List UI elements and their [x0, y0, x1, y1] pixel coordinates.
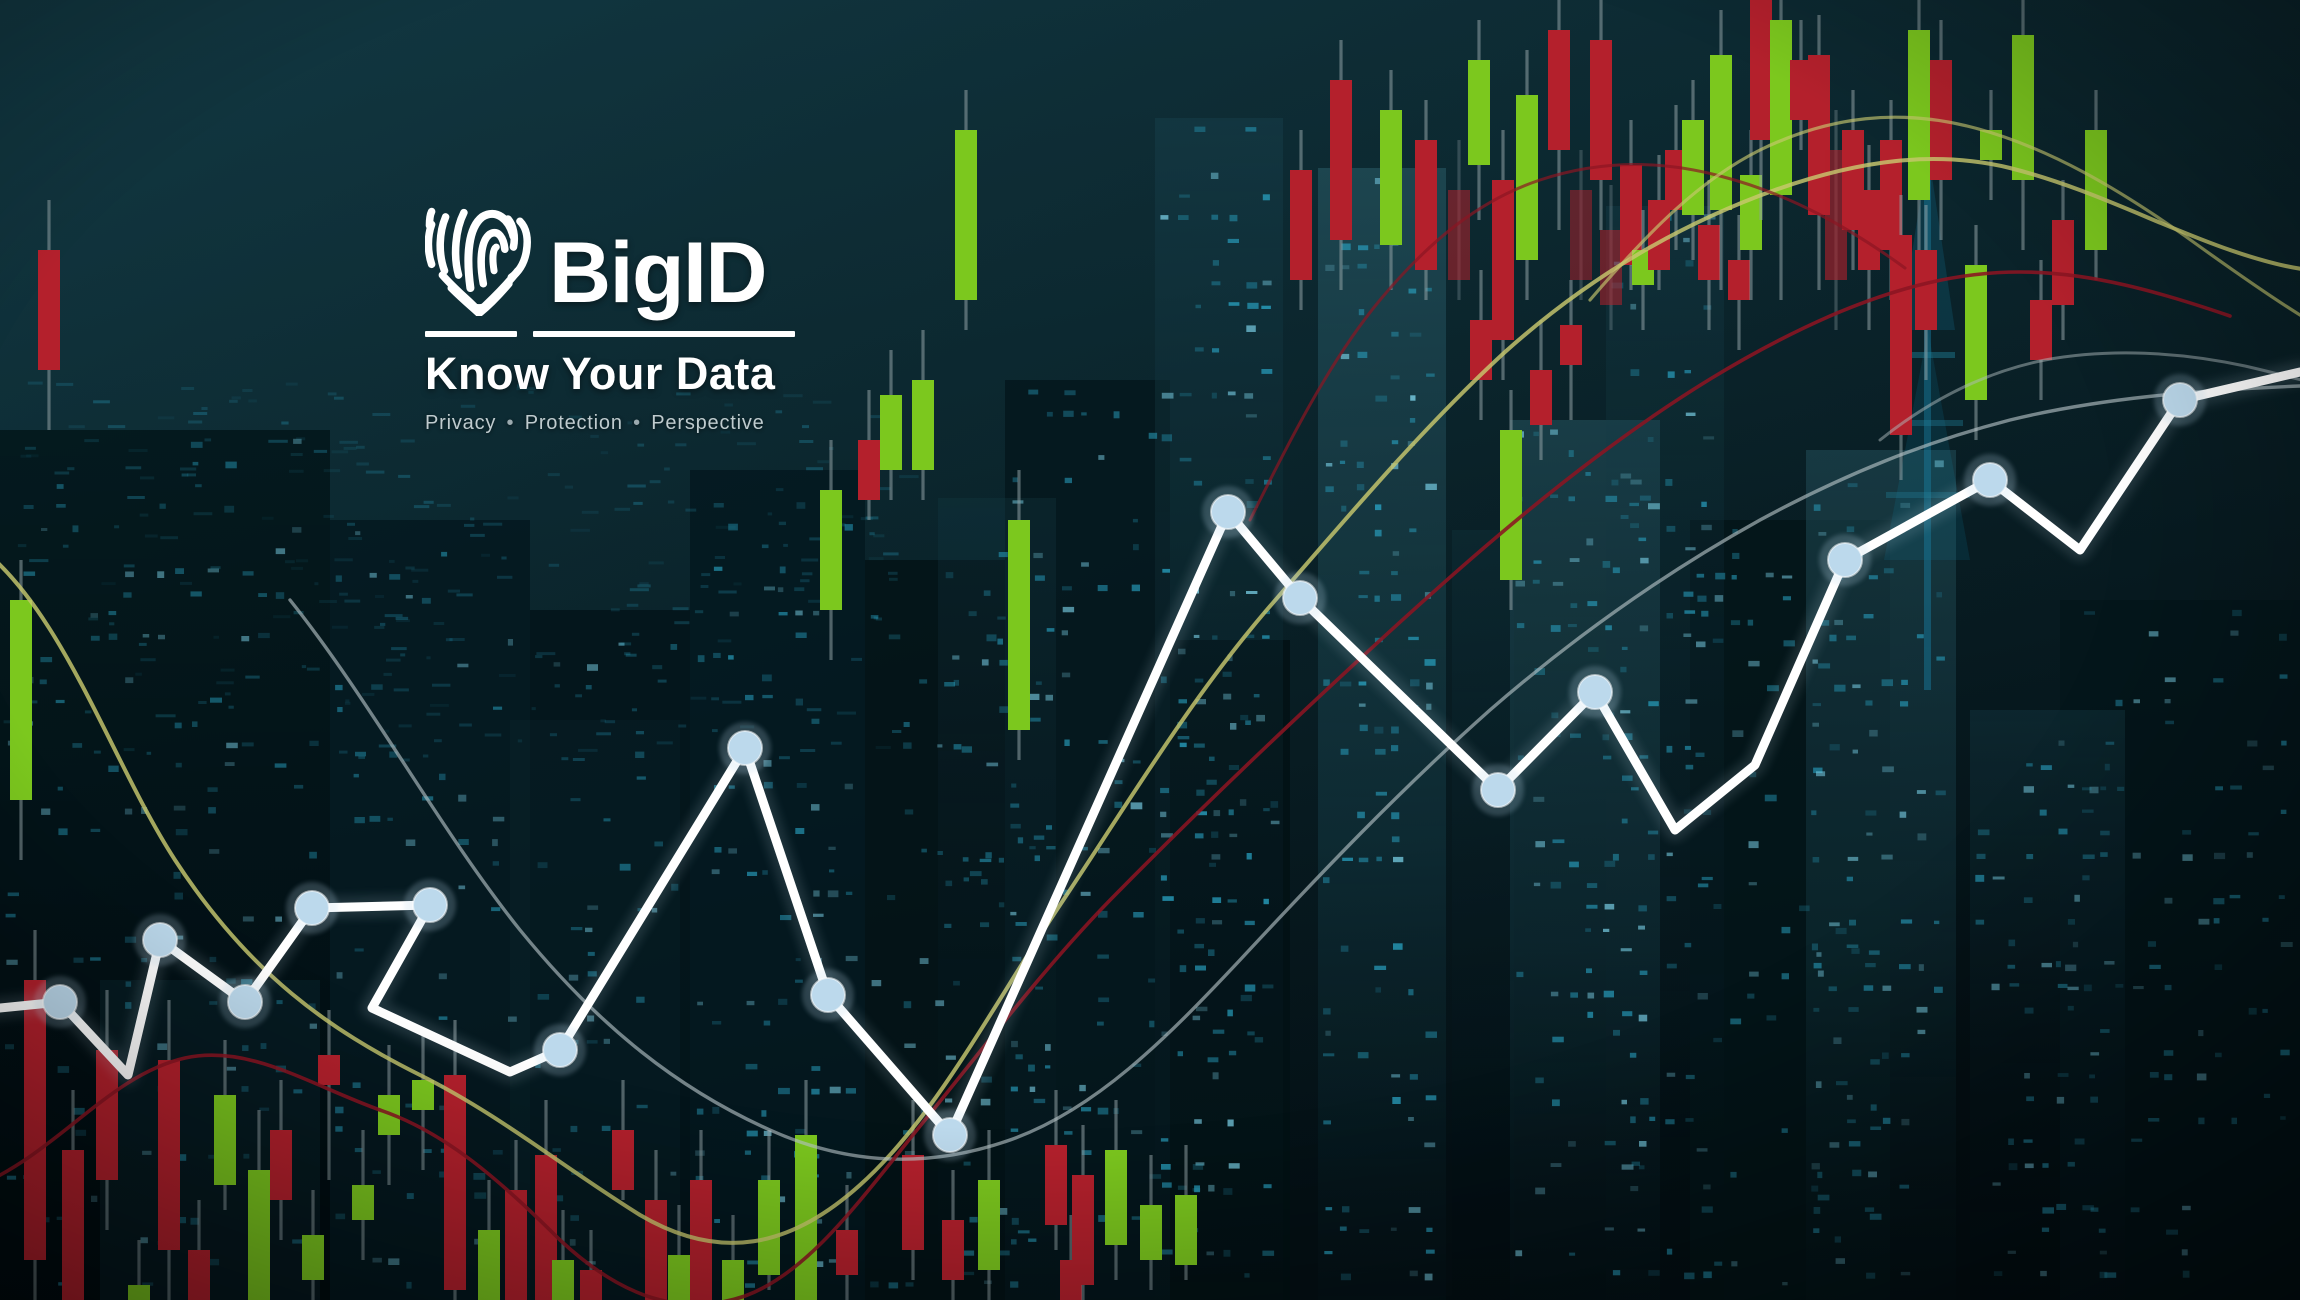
bigid-logo: BigID Know Your Data Privacy • Protectio…: [425, 198, 795, 435]
subtagline-separator-1: •: [503, 412, 519, 434]
divider-segment-left: [425, 331, 517, 337]
logo-primary-row: BigID: [425, 198, 795, 316]
bigid-wordmark: BigID: [549, 234, 766, 316]
subtagline-perspective: Perspective: [651, 412, 764, 434]
logo-subtagline: Privacy • Protection • Perspective: [425, 412, 795, 435]
banner-stage: BigID Know Your Data Privacy • Protectio…: [0, 0, 2300, 1300]
divider-segment-right: [533, 331, 795, 337]
vignette-layer: [0, 0, 2300, 1300]
subtagline-separator-2: •: [629, 412, 645, 434]
logo-divider: [425, 330, 795, 337]
subtagline-privacy: Privacy: [425, 412, 496, 434]
subtagline-protection: Protection: [525, 412, 623, 434]
fingerprint-shield-icon: [425, 204, 533, 316]
logo-tagline: Know Your Data: [425, 348, 795, 400]
